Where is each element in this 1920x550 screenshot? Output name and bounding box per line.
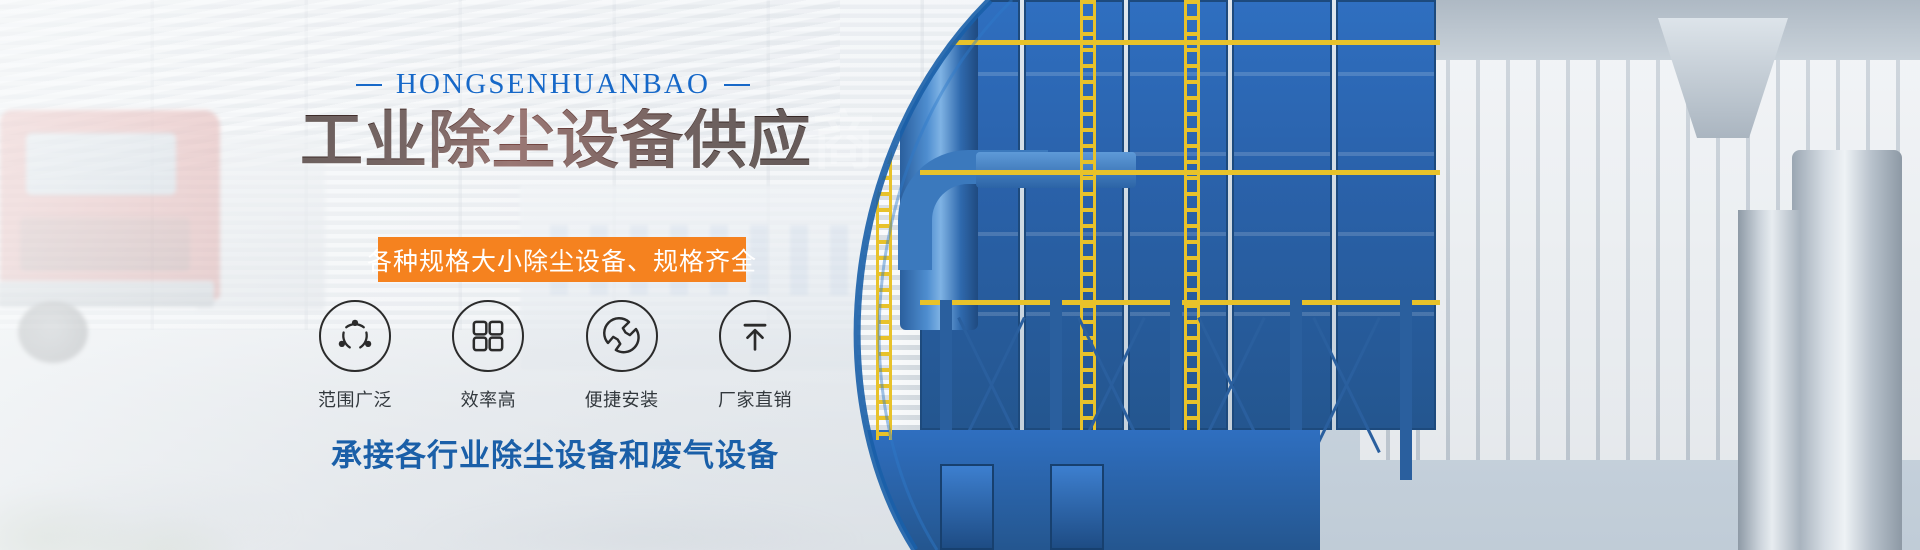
feature-icon-circle (719, 300, 791, 372)
highlight-bar-text: 各种规格大小除尘设备、规格齐全 (367, 242, 757, 278)
feature-item-efficiency[interactable]: 效率高 (433, 300, 543, 412)
eyebrow-dash-right (724, 84, 750, 86)
feature-icon-circle (586, 300, 658, 372)
eyebrow-text: HONGSENHUANBAO (396, 68, 710, 101)
feature-label: 便捷安装 (567, 386, 677, 412)
steel-silo (1792, 150, 1902, 550)
feature-list: 范围广泛 效率高 (300, 300, 810, 412)
subtitle: 承接各行业除尘设备和废气设备 (300, 430, 810, 475)
hero-content: HONGSENHUANBAO 工业除尘设备供应商 各种规格大小除尘设备、规格齐全 (0, 0, 1100, 550)
feature-item-range[interactable]: 范围广泛 (300, 300, 410, 412)
feature-item-factory-direct[interactable]: 厂家直销 (700, 300, 810, 412)
up-arrow-icon (735, 316, 775, 356)
wrench-icon (601, 315, 643, 357)
page-title: 工业除尘设备供应商 (300, 108, 810, 174)
feature-item-installation[interactable]: 便捷安装 (567, 300, 677, 412)
hero-banner: HONGSENHUANBAO 工业除尘设备供应商 各种规格大小除尘设备、规格齐全 (0, 0, 1920, 550)
highlight-bar: 各种规格大小除尘设备、规格齐全 (378, 237, 746, 282)
feature-label: 厂家直销 (700, 386, 810, 412)
grid-squares-icon (468, 316, 508, 356)
feature-label: 效率高 (433, 386, 543, 412)
feature-label: 范围广泛 (300, 386, 410, 412)
network-nodes-icon (334, 315, 376, 357)
eyebrow-row: HONGSENHUANBAO (318, 68, 788, 101)
feature-icon-circle (452, 300, 524, 372)
feature-icon-circle (319, 300, 391, 372)
factory-roofline (1360, 0, 1920, 60)
steel-silo-secondary (1738, 210, 1800, 550)
eyebrow-dash-left (356, 84, 382, 86)
